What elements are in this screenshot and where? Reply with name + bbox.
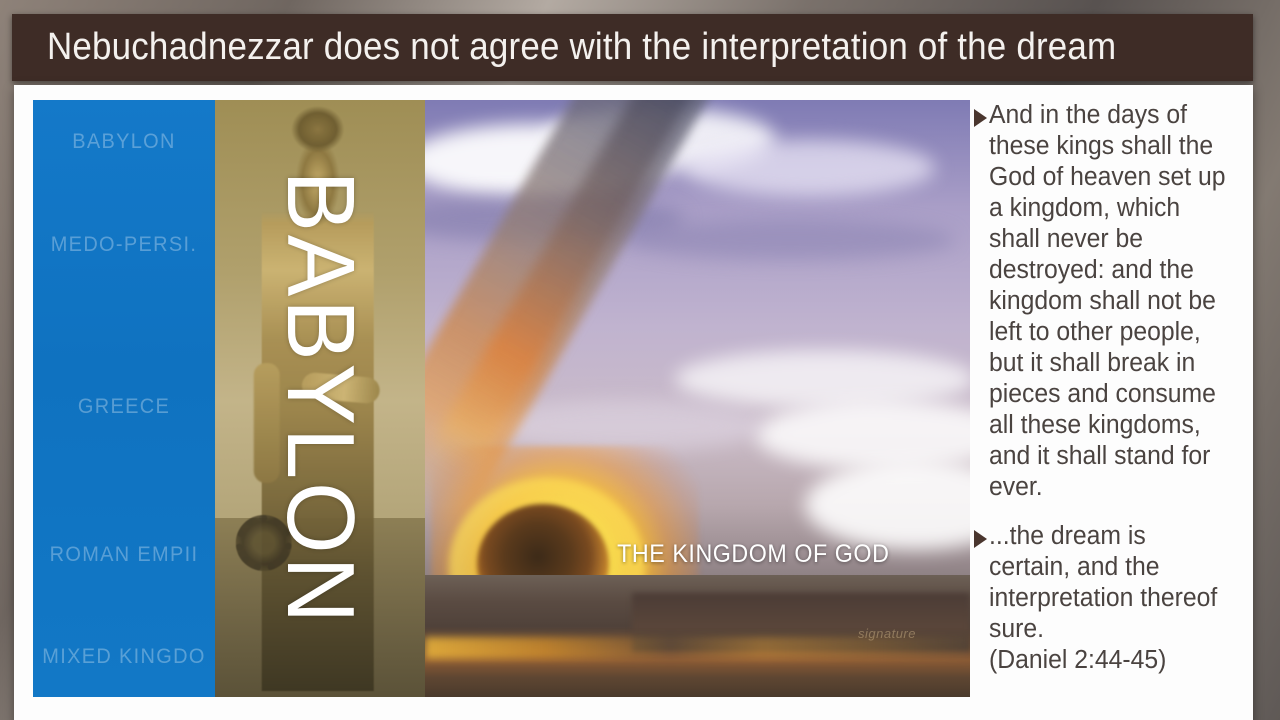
kingdom-label-mixed-kingdom: MIXED KINGDO xyxy=(38,645,211,669)
kingdom-of-god-caption: THE KINGDOM OF GOD xyxy=(444,540,951,569)
page-title: Nebuchadnezzar does not agree with the i… xyxy=(12,26,1116,69)
slide-body: BABYLON MEDO-PERSI. GREECE ROMAN EMPII M… xyxy=(14,85,1253,720)
kingdom-label-babylon: BABYLON xyxy=(38,130,211,154)
statue-photo-panel: BABYLON xyxy=(215,100,425,697)
meteor-scene-panel: signature THE KINGDOM OF GOD xyxy=(425,100,970,697)
cloud-shape xyxy=(755,400,970,470)
scripture-bullet-2-text: ...the dream is certain, and the interpr… xyxy=(989,522,1217,643)
scripture-text-panel: And in the days of these kings shall the… xyxy=(974,100,1236,697)
triangle-bullet-icon xyxy=(974,530,987,548)
artist-signature: signature xyxy=(858,626,916,641)
scripture-bullet-2: ...the dream is certain, and the interpr… xyxy=(974,521,1236,676)
scripture-bullet-1: And in the days of these kings shall the… xyxy=(974,100,1236,503)
kingdom-label-greece: GREECE xyxy=(38,395,211,419)
kingdom-label-medo-persia: MEDO-PERSI. xyxy=(38,233,211,257)
triangle-bullet-icon xyxy=(974,109,987,127)
babylon-vertical-label-wrap: BABYLON xyxy=(215,100,425,697)
slide-title-bar: Nebuchadnezzar does not agree with the i… xyxy=(12,14,1253,81)
cloud-shape xyxy=(685,140,935,196)
kingdom-label-roman-empire: ROMAN EMPII xyxy=(38,543,211,567)
cloud-shape xyxy=(675,350,970,408)
scripture-bullet-1-text: And in the days of these kings shall the… xyxy=(989,100,1229,503)
cloud-shape xyxy=(805,460,970,550)
scripture-bullet-2-body: ...the dream is certain, and the interpr… xyxy=(989,521,1229,676)
composite-image: BABYLON MEDO-PERSI. GREECE ROMAN EMPII M… xyxy=(33,100,970,697)
kingdom-timeline-column: BABYLON MEDO-PERSI. GREECE ROMAN EMPII M… xyxy=(33,100,215,697)
cloud-shape xyxy=(625,220,955,260)
scripture-reference: (Daniel 2:44-45) xyxy=(989,645,1229,676)
babylon-vertical-label: BABYLON xyxy=(265,171,375,627)
